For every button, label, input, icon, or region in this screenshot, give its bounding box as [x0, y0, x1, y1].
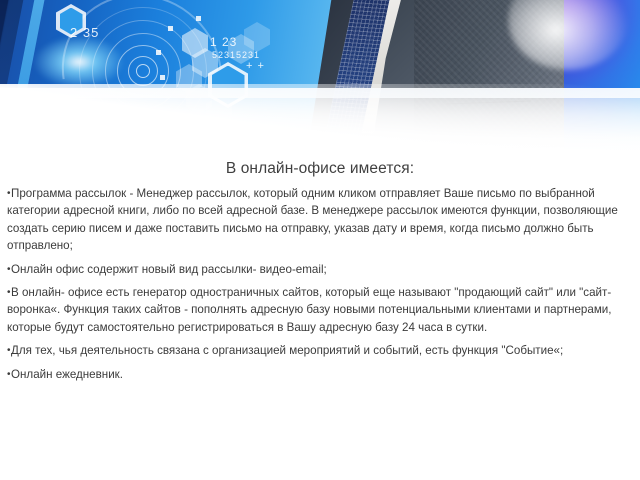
banner-diagonal-fade [0, 84, 640, 152]
bullet-item-2: Онлайн офис содержит новый вид рассылки-… [7, 261, 632, 278]
bullet-item-3: В онлайн- офисе есть генератор одностран… [7, 284, 632, 336]
banner-number-plus: + + [246, 60, 265, 72]
square-dot-2 [156, 50, 161, 55]
banner-number-left: 2 35 [70, 25, 99, 40]
square-dot-1 [168, 26, 173, 31]
bullet-item-4: Для тех, чья деятельность связана с орга… [7, 342, 632, 359]
slide-title: В онлайн-офисе имеется: [0, 160, 640, 178]
slide-content: В онлайн-офисе имеется: Программа рассыл… [0, 160, 640, 389]
banner-number-code: 52315231 [212, 50, 260, 60]
bullet-item-1: Программа рассылок - Менеджер рассылок, … [7, 185, 632, 255]
bullet-item-5: Онлайн ежедневник. [7, 366, 632, 383]
square-dot-3 [160, 75, 165, 80]
bullet-list: Программа рассылок - Менеджер рассылок, … [0, 185, 640, 383]
banner-number-top-right: 1 23 [210, 35, 237, 49]
square-dot-4 [196, 16, 201, 21]
header-banner-image: 2 35 1 23 52315231 + + [0, 0, 640, 152]
slide: 2 35 1 23 52315231 + + В онлайн-офисе им… [0, 0, 640, 480]
